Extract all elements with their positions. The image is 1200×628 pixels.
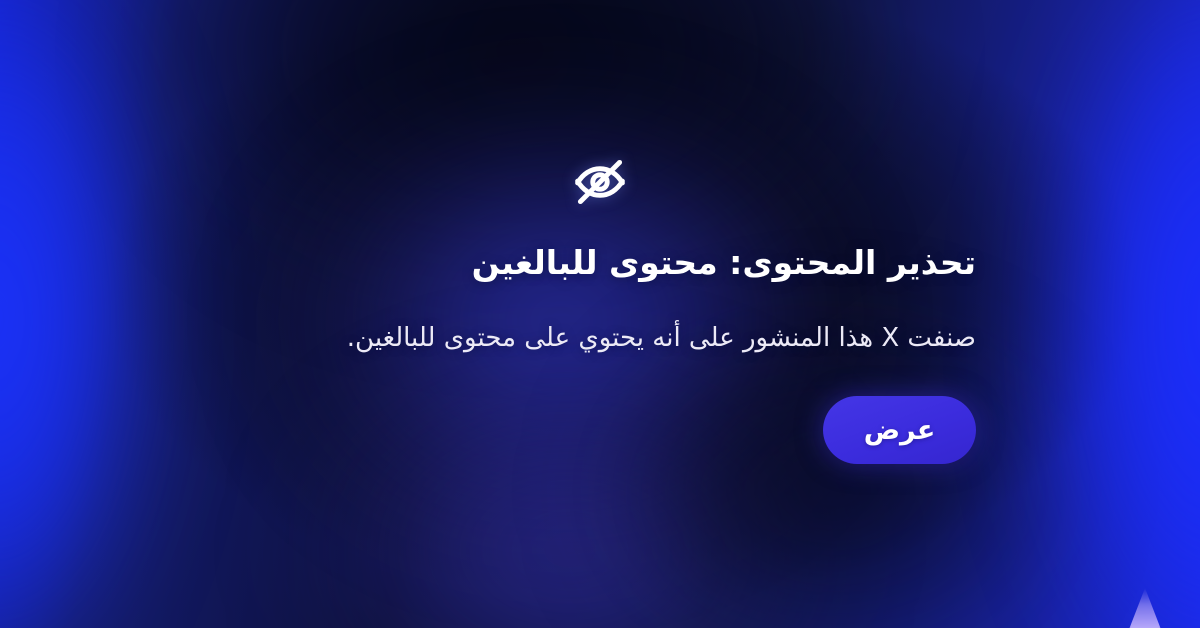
action-row: عرض [224, 396, 976, 464]
warning-description: صنفت X هذا المنشور على أنه يحتوي على محت… [224, 321, 976, 357]
card-content: تحذير المحتوى: محتوى للبالغين صنفت X هذا… [0, 0, 1200, 628]
page-title: تحذير المحتوى: محتوى للبالغين [224, 241, 976, 285]
view-button[interactable]: عرض [823, 396, 976, 464]
content-warning-card: تحذير المحتوى: محتوى للبالغين صنفت X هذا… [0, 0, 1200, 628]
eye-off-icon [571, 154, 629, 210]
